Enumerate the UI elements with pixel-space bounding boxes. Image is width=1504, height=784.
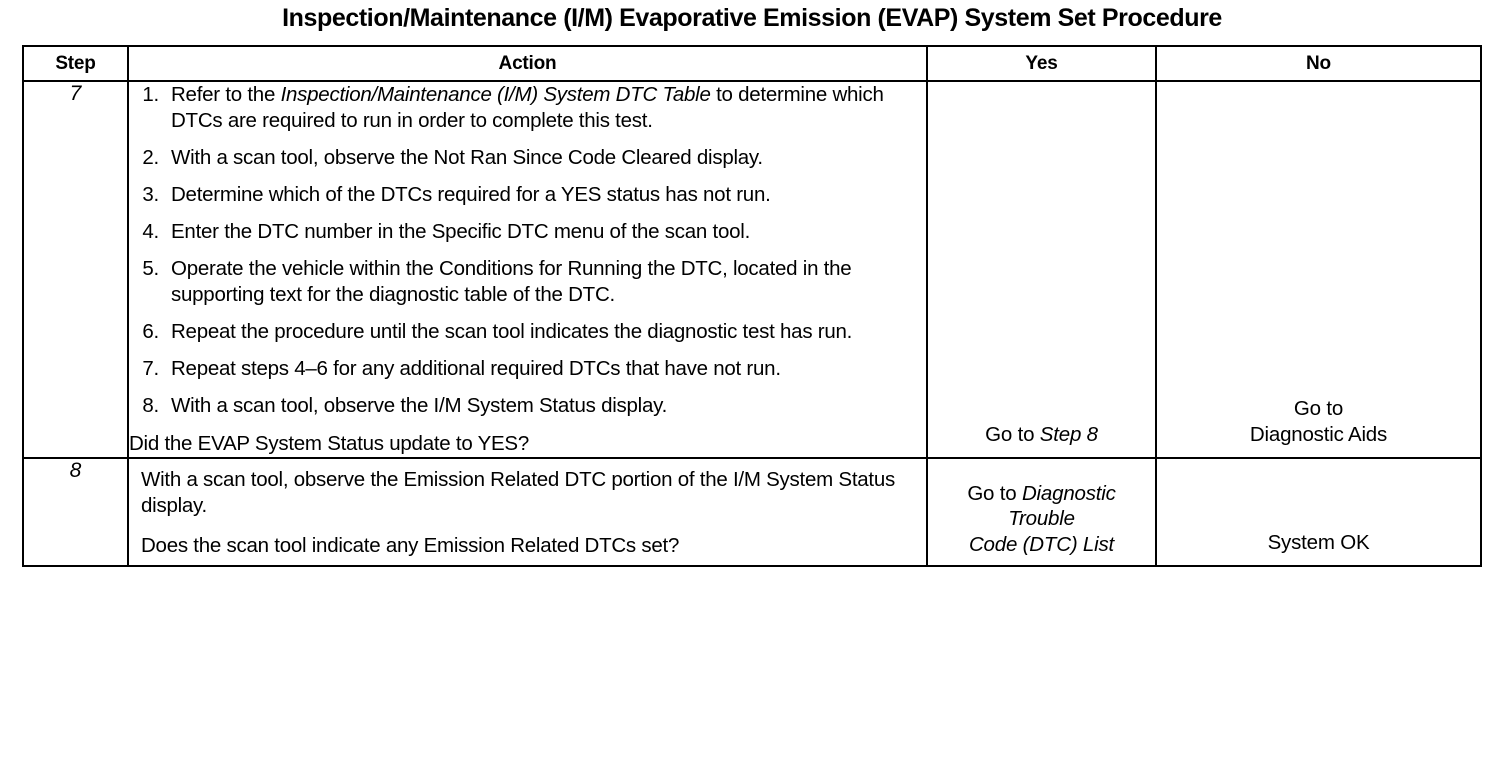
list-item-text: Repeat steps 4–6 for any additional requ… [171, 357, 781, 380]
list-item: 2.With a scan tool, observe the Not Ran … [129, 145, 926, 171]
list-item-text: Operate the vehicle within the Condition… [171, 257, 851, 306]
yes-result-prefix: Go to [985, 423, 1040, 446]
no-result-target: Diagnostic Aids [1157, 422, 1480, 448]
list-item-text-before: Refer to the [171, 83, 281, 106]
column-header-action: Action [128, 46, 927, 81]
yes-result-prefix: Go to [967, 482, 1022, 505]
yes-result-reference-part3: Code (DTC) List [928, 532, 1155, 558]
list-item-text: Enter the DTC number in the Specific DTC… [171, 220, 750, 243]
table-header-row: Step Action Yes No [23, 46, 1481, 81]
action-statement: With a scan tool, observe the Emission R… [141, 467, 914, 519]
list-item: 8.With a scan tool, observe the I/M Syst… [129, 393, 926, 419]
action-question: Did the EVAP System Status update to YES… [129, 431, 926, 457]
step-number: 8 [23, 458, 128, 566]
action-content: With a scan tool, observe the Emission R… [128, 458, 927, 566]
no-result-prefix: Go to [1157, 396, 1480, 422]
action-question: Does the scan tool indicate any Emission… [141, 533, 914, 559]
list-item: 4.Enter the DTC number in the Specific D… [129, 219, 926, 245]
numbered-step-list: 1.Refer to the Inspection/Maintenance (I… [129, 82, 926, 419]
list-item-number: 1. [129, 82, 159, 108]
yes-result-reference-part2: Trouble [928, 506, 1155, 532]
no-result: System OK [1156, 458, 1481, 566]
no-result: Go to Diagnostic Aids [1156, 81, 1481, 458]
table-row: 8 With a scan tool, observe the Emission… [23, 458, 1481, 566]
list-item-number: 4. [129, 219, 159, 245]
list-item-number: 6. [129, 319, 159, 345]
page-title: Inspection/Maintenance (I/M) Evaporative… [0, 4, 1504, 33]
yes-result: Go to Step 8 [927, 81, 1156, 458]
italic-reference: Inspection/Maintenance (I/M) System DTC … [281, 83, 711, 106]
action-content: 1.Refer to the Inspection/Maintenance (I… [128, 81, 927, 458]
document-page: Inspection/Maintenance (I/M) Evaporative… [0, 0, 1504, 784]
list-item-text: With a scan tool, observe the Not Ran Si… [171, 146, 763, 169]
list-item-number: 5. [129, 256, 159, 282]
column-header-no: No [1156, 46, 1481, 81]
list-item: 3.Determine which of the DTCs required f… [129, 182, 926, 208]
list-item-number: 7. [129, 356, 159, 382]
step-number: 7 [23, 81, 128, 458]
list-item-number: 2. [129, 145, 159, 171]
diagnostic-procedure-table: Step Action Yes No 7 1.Refer to the Insp… [22, 45, 1482, 567]
list-item: 6.Repeat the procedure until the scan to… [129, 319, 926, 345]
list-item: 5.Operate the vehicle within the Conditi… [129, 256, 926, 308]
list-item-text: With a scan tool, observe the I/M System… [171, 394, 667, 417]
yes-result-line-1: Go to Diagnostic [928, 481, 1155, 507]
table-row: 7 1.Refer to the Inspection/Maintenance … [23, 81, 1481, 458]
list-item-number: 3. [129, 182, 159, 208]
column-header-yes: Yes [927, 46, 1156, 81]
list-item-number: 8. [129, 393, 159, 419]
list-item-text: Determine which of the DTCs required for… [171, 183, 771, 206]
list-item: 7.Repeat steps 4–6 for any additional re… [129, 356, 926, 382]
list-item: 1.Refer to the Inspection/Maintenance (I… [129, 82, 926, 134]
list-item-text: Repeat the procedure until the scan tool… [171, 320, 852, 343]
yes-result-reference: Step 8 [1040, 423, 1098, 446]
yes-result: Go to Diagnostic Trouble Code (DTC) List [927, 458, 1156, 566]
no-result-target: System OK [1157, 530, 1480, 556]
column-header-step: Step [23, 46, 128, 81]
yes-result-reference-part1: Diagnostic [1022, 482, 1116, 505]
